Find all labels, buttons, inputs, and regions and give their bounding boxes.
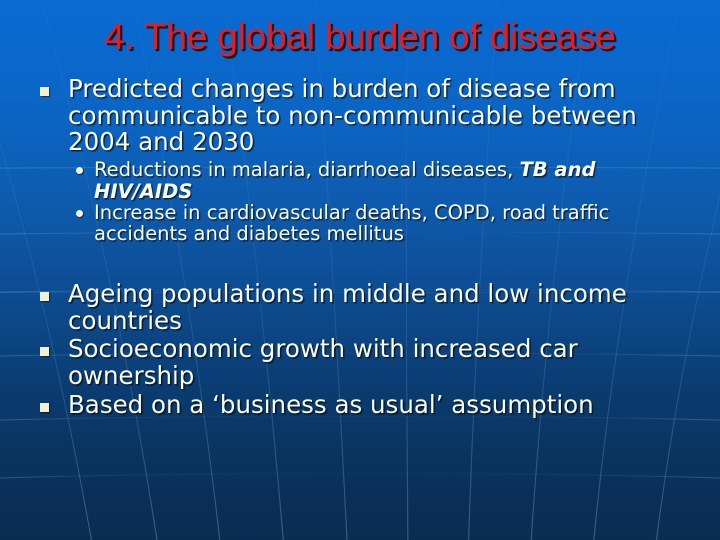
sub-bullet-item-increase: Increase in cardiovascular deaths, COPD,… [68,202,698,245]
round-bullet-icon [76,167,83,174]
bullet-item-business-as-usual: Based on a ‘business as usual’ assumptio… [30,392,698,419]
sub-bullet-list: Reductions in malaria, diarrhoeal diseas… [68,159,698,245]
bullet-item-predicted-changes: Predicted changes in burden of disease f… [30,76,698,245]
slide-title: 4. The global burden of disease [0,16,720,58]
square-bullet-icon [40,403,49,412]
bullet-item-socioeconomic-growth: Socioeconomic growth with increased car … [30,336,698,389]
bullet-text: Predicted changes in burden of disease f… [68,74,637,156]
sub-bullet-text: Increase in cardiovascular deaths, COPD,… [94,201,609,245]
square-bullet-icon [40,292,49,301]
round-bullet-icon [76,210,83,217]
presentation-slide: 4. The global burden of disease Predicte… [0,0,720,540]
bullet-spacer [30,245,698,281]
bullet-text: Socioeconomic growth with increased car … [68,334,578,390]
sub-bullet-text: Reductions in malaria, diarrhoeal diseas… [94,158,519,181]
square-bullet-icon [40,347,49,356]
bullet-text: Based on a ‘business as usual’ assumptio… [68,390,594,419]
bullet-text: Ageing populations in middle and low inc… [68,279,627,335]
slide-body: Predicted changes in burden of disease f… [30,76,698,418]
bullet-list: Predicted changes in burden of disease f… [30,76,698,418]
sub-bullet-item-reductions: Reductions in malaria, diarrhoeal diseas… [68,159,698,202]
square-bullet-icon [40,87,49,96]
bullet-item-ageing-populations: Ageing populations in middle and low inc… [30,281,698,334]
